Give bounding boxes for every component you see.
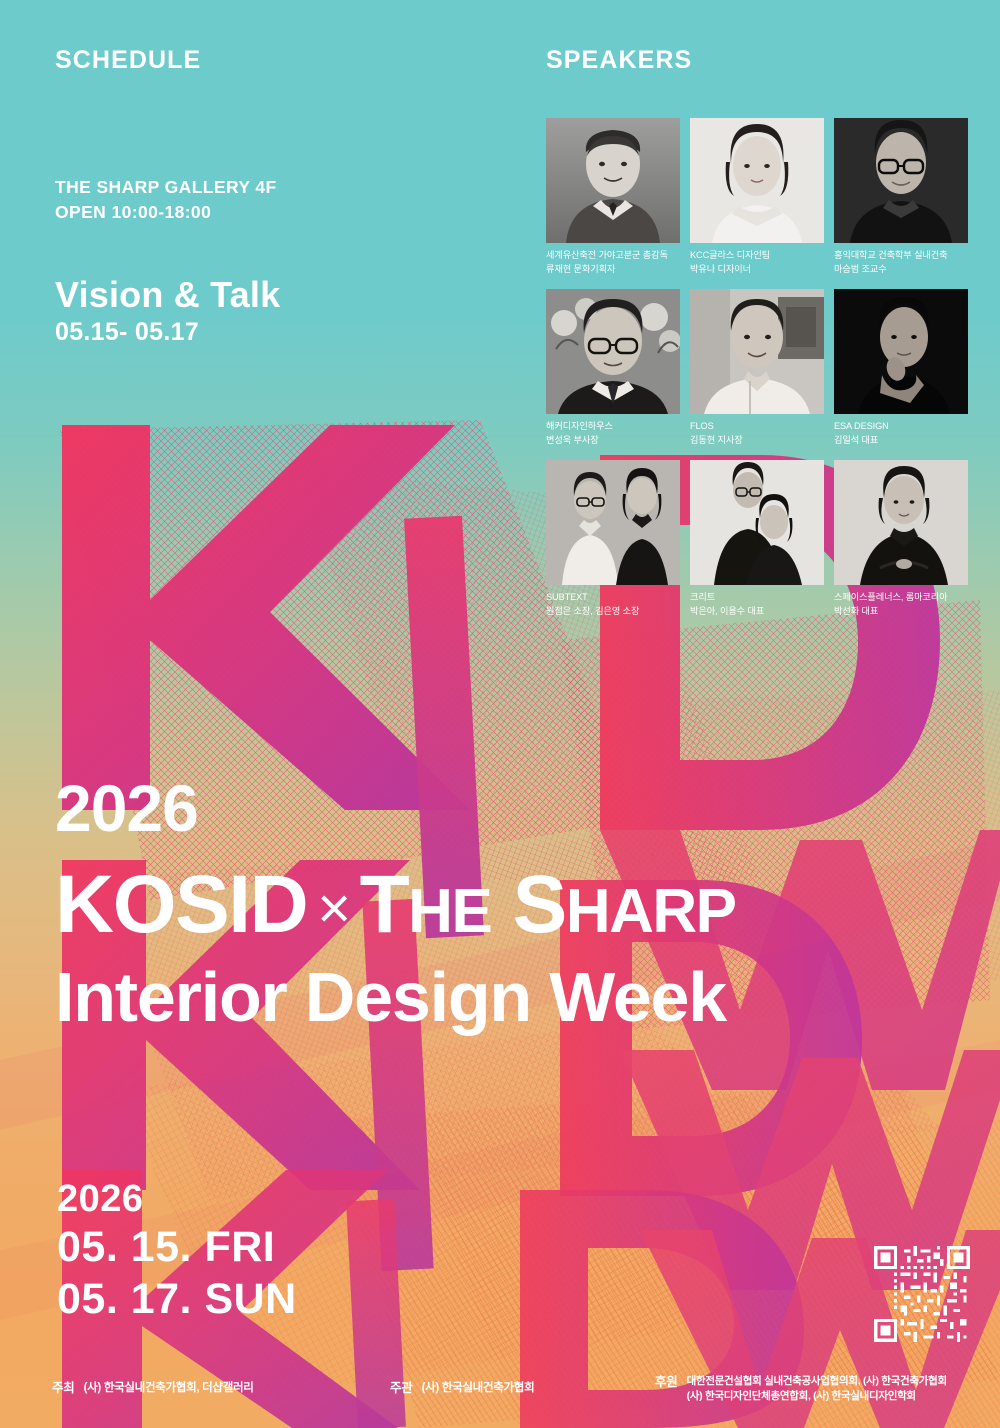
footer-sponsor-value: 대한전문건설협회 실내건축공사업협의회, (사) 한국건축가협회 (사) 한국디… [687,1374,947,1404]
speaker-card: ESA DESIGN 김일석 대표 [834,289,968,448]
footer-organizer: 주관 (사) 한국실내건축가협회 [390,1380,534,1398]
footer-organizer-value: (사) 한국실내건축가협회 [422,1380,535,1396]
venue-line-1: THE SHARP GALLERY 4F [55,175,277,200]
speaker-name: 김동현 지사장 [690,434,824,448]
speaker-caption: 해커디자인하우스 변성욱 부사장 [546,420,680,448]
event-year: 2026 [57,1178,297,1221]
speaker-portrait-1 [546,118,680,243]
title-sharp-s: S [513,859,566,950]
title-sharp-he: HE [408,877,491,946]
title-kosid: KOSID [55,859,307,950]
footer-sponsor-label: 후원 [655,1374,678,1392]
footer-host-label: 주최 [52,1380,75,1398]
footer-sponsors: 후원 대한전문건설협회 실내건축공사업협의회, (사) 한국건축가협회 (사) … [655,1374,947,1404]
speaker-card: 세계유산축전 가야고분군 총감독 류재현 문화기획자 [546,118,680,277]
speaker-caption: 세계유산축전 가야고분군 총감독 류재현 문화기획자 [546,249,680,277]
speaker-caption: 홍익대학교 건축학부 실내건축 마승범 조교수 [834,249,968,277]
poster-root: SCHEDULE THE SHARP GALLERY 4F OPEN 10:00… [0,0,1000,1428]
speaker-caption: KCC글라스 디자인팀 박유나 디자이너 [690,249,824,277]
event-date-block: 2026 05. 15. FRI 05. 17. SUN [57,1178,297,1325]
title-sharp-harp: HARP [566,877,736,946]
speaker-org: 크리트 [690,591,824,605]
speaker-portrait-2 [690,118,824,243]
speaker-portrait-8 [690,460,824,585]
speaker-portrait-3 [834,118,968,243]
venue-info: THE SHARP GALLERY 4F OPEN 10:00-18:00 [55,175,277,225]
title-sharp-t: T [360,859,409,950]
speaker-org: FLOS [690,420,824,434]
speaker-card: 해커디자인하우스 변성욱 부사장 [546,289,680,448]
event-start-date: 05. 15. FRI [57,1221,297,1273]
qr-code[interactable] [874,1246,970,1342]
footer: 주최 (사) 한국실내건축가협회, 더샵갤러리 주관 (사) 한국실내건축가협회… [0,1364,1000,1428]
speaker-name: 류재현 문화기획자 [546,263,680,277]
speakers-heading: SPEAKERS [546,48,966,73]
speaker-card: FLOS 김동현 지사장 [690,289,824,448]
title-year: 2026 [55,775,965,841]
speaker-card: 스페이스플레너스, 롬마코리아 박선화 대표 [834,460,968,619]
footer-host: 주최 (사) 한국실내건축가협회, 더샵갤러리 [52,1380,254,1398]
speaker-name: 박은아, 이용수 대표 [690,605,824,619]
speaker-org: 홍익대학교 건축학부 실내건축 [834,249,968,263]
speaker-name: 변성욱 부사장 [546,434,680,448]
speaker-org: SUBTEXT [546,591,680,605]
schedule-column: SCHEDULE [55,48,495,73]
speaker-caption: SUBTEXT 원점은 소장, 김은영 소장 [546,591,680,619]
speaker-name: 원점은 소장, 김은영 소장 [546,605,680,619]
speaker-portrait-5 [690,289,824,414]
program-dates: 05.15- 05.17 [55,317,280,348]
title-brands: KOSID×THE SHARP [55,863,965,947]
speaker-card: 홍익대학교 건축학부 실내건축 마승범 조교수 [834,118,968,277]
speaker-name: 김일석 대표 [834,434,968,448]
speaker-portrait-6 [834,289,968,414]
title-subtitle: Interior Design Week [55,961,965,1035]
schedule-heading: SCHEDULE [55,48,495,73]
vision-and-talk-block: Vision & Talk 05.15- 05.17 [55,275,280,349]
speaker-org: 스페이스플레너스, 롬마코리아 [834,591,968,605]
speaker-portrait-9 [834,460,968,585]
venue-line-2: OPEN 10:00-18:00 [55,200,277,225]
speaker-caption: FLOS 김동현 지사장 [690,420,824,448]
speaker-card: SUBTEXT 원점은 소장, 김은영 소장 [546,460,680,619]
speaker-portrait-4 [546,289,680,414]
speaker-caption: 스페이스플레너스, 롬마코리아 박선화 대표 [834,591,968,619]
event-end-date: 05. 17. SUN [57,1273,297,1325]
footer-sponsor-line-1: 대한전문건설협회 실내건축공사업협의회, (사) 한국건축가협회 [687,1374,947,1389]
speaker-org: ESA DESIGN [834,420,968,434]
title-cross-icon: × [307,876,359,941]
main-title-block: 2026 KOSID×THE SHARP Interior Design Wee… [55,775,965,1034]
speaker-caption: ESA DESIGN 김일석 대표 [834,420,968,448]
speaker-card: KCC글라스 디자인팀 박유나 디자이너 [690,118,824,277]
footer-organizer-label: 주관 [390,1380,413,1398]
speaker-card: 크리트 박은아, 이용수 대표 [690,460,824,619]
footer-host-value: (사) 한국실내건축가협회, 더샵갤러리 [84,1380,254,1396]
speaker-org: KCC글라스 디자인팀 [690,249,824,263]
speaker-name: 박선화 대표 [834,605,968,619]
speaker-org: 세계유산축전 가야고분군 총감독 [546,249,680,263]
speaker-portrait-7 [546,460,680,585]
speaker-caption: 크리트 박은아, 이용수 대표 [690,591,824,619]
speaker-name: 박유나 디자이너 [690,263,824,277]
speaker-org: 해커디자인하우스 [546,420,680,434]
footer-sponsor-line-2: (사) 한국디자인단체총연합회, (사) 한국실내디자인학회 [687,1389,947,1404]
speakers-column: SPEAKERS [546,48,966,619]
speakers-grid: 세계유산축전 가야고분군 총감독 류재현 문화기획자 [546,118,966,619]
program-title: Vision & Talk [55,275,280,315]
speaker-name: 마승범 조교수 [834,263,968,277]
